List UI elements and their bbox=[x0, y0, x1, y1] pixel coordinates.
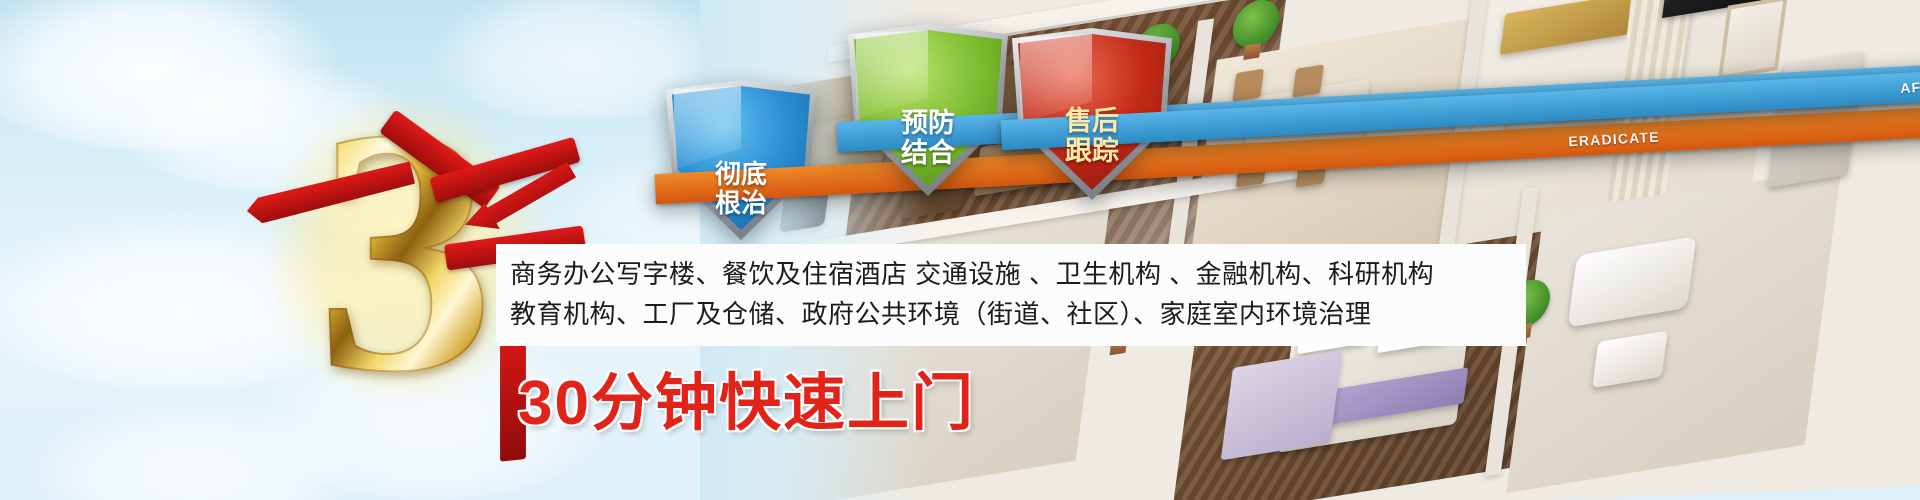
badge-chinese-line1: 预防 bbox=[848, 108, 1008, 138]
potted-plant bbox=[1228, 0, 1282, 62]
badge-chinese-line1: 彻底 bbox=[666, 160, 816, 189]
badge-chinese-line1: 售后 bbox=[1012, 106, 1172, 136]
badge-chinese-label: 预防 结合 bbox=[848, 108, 1008, 168]
badge-chinese-label: 彻底 根治 bbox=[666, 160, 816, 218]
badge-chinese-line2: 根治 bbox=[666, 189, 816, 218]
service-scope-line-1: 商务办公写字楼、餐饮及住宿酒店 交通设施 、卫生机构 、金融机构、科研机构 bbox=[510, 254, 1512, 294]
badge-prevention[interactable]: PREVENTION 预防 结合 bbox=[848, 24, 1008, 196]
badge-chinese-line2: 结合 bbox=[848, 138, 1008, 168]
bathroom-floor bbox=[1506, 167, 1841, 493]
badge-aftermarket[interactable]: AFTERMARKET 售后 跟踪 bbox=[1012, 28, 1172, 200]
badge-chinese-line2: 跟踪 bbox=[1012, 136, 1172, 166]
promo-banner: 3 ERADICATE 彻底 根治 PREVENTION 预防 结合 AFTER… bbox=[0, 0, 1920, 500]
service-scope-line-2: 教育机构、工厂及仓储、政府公共环境（街道、社区）、家庭室内环境治理 bbox=[510, 294, 1512, 334]
badge-chinese-label: 售后 跟踪 bbox=[1012, 106, 1172, 166]
framed-picture bbox=[1718, 0, 1788, 80]
badge-eradicate[interactable]: ERADICATE 彻底 根治 bbox=[666, 80, 816, 240]
service-scope-panel: 商务办公写字楼、餐饮及住宿酒店 交通设施 、卫生机构 、金融机构、科研机构 教育… bbox=[496, 244, 1526, 346]
headline-text: 30分钟快速上门 bbox=[518, 352, 975, 442]
